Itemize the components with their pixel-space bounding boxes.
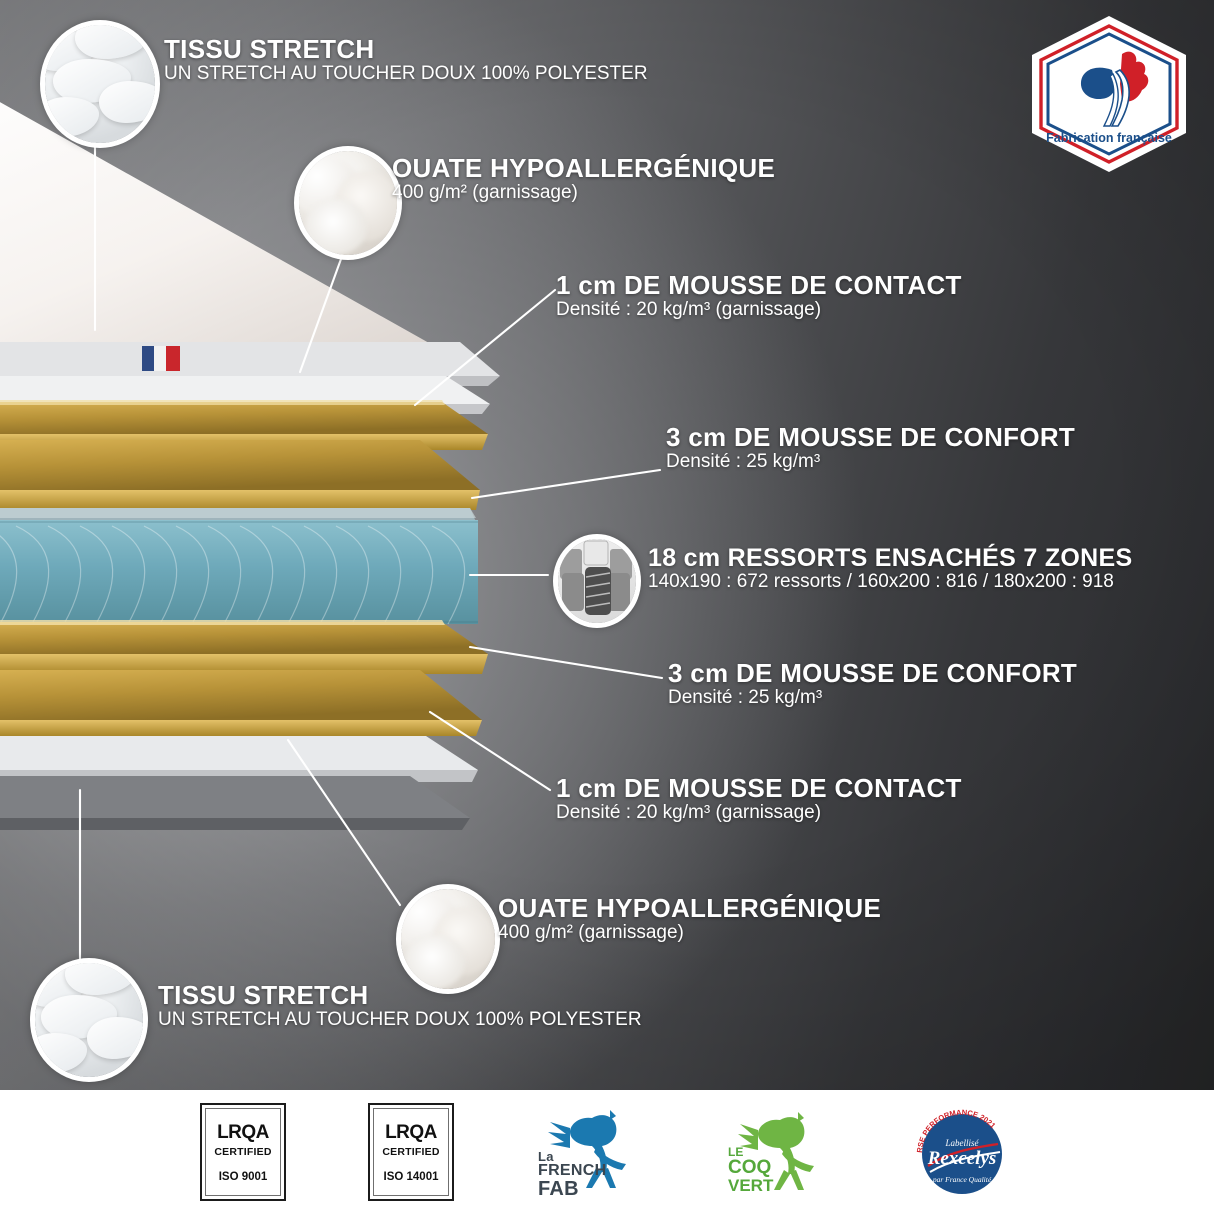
callout-mousse-confort-top: 3 cm DE MOUSSE DE CONFORT Densité : 25 k… — [666, 424, 1075, 473]
lrqa-certified: CERTIFIED — [214, 1146, 271, 1158]
callout-ouate-top: OUATE HYPOALLERGÉNIQUE 400 g/m² (garniss… — [392, 155, 775, 204]
callout-title: 18 cm RESSORTS ENSACHÉS 7 ZONES — [648, 545, 1132, 571]
callout-title: 1 cm DE MOUSSE DE CONTACT — [556, 775, 962, 802]
callout-title: 1 cm DE MOUSSE DE CONTACT — [556, 272, 962, 299]
rooster-blue — [1081, 68, 1116, 99]
callout-subtitle: 400 g/m² (garnissage) — [392, 182, 775, 204]
callout-subtitle: Densité : 25 kg/m³ — [666, 451, 1075, 473]
stretch-fabric-swatch-bottom — [30, 958, 148, 1082]
cert-lrqa-iso-14001: LRQA CERTIFIED ISO 14001 — [368, 1103, 454, 1201]
coq-vert-line3: VERT — [728, 1177, 773, 1194]
callout-mousse-confort-bottom: 3 cm DE MOUSSE DE CONFORT Densité : 25 k… — [668, 660, 1077, 709]
lrqa-standard: ISO 14001 — [384, 1171, 439, 1183]
coq-vert-line2: COQ — [728, 1158, 771, 1177]
stretch-fabric-swatch-top — [40, 20, 160, 148]
callout-subtitle: Densité : 20 kg/m³ (garnissage) — [556, 802, 962, 824]
certification-footer: LRQA CERTIFIED ISO 9001 LRQA CERTIFIED I… — [0, 1090, 1214, 1214]
lrqa-wordmark: LRQA — [217, 1122, 269, 1144]
callout-title: OUATE HYPOALLERGÉNIQUE — [498, 895, 881, 922]
callout-subtitle: Densité : 25 kg/m³ — [668, 687, 1077, 709]
cert-lrqa-iso-9001: LRQA CERTIFIED ISO 9001 — [200, 1103, 286, 1201]
callout-title: 3 cm DE MOUSSE DE CONFORT — [666, 424, 1075, 451]
fabrication-francaise-badge: Fabrication française — [1026, 14, 1192, 174]
lrqa-certified: CERTIFIED — [382, 1146, 439, 1158]
svg-text:Rexcelys: Rexcelys — [927, 1148, 997, 1169]
lrqa-wordmark: LRQA — [385, 1122, 437, 1144]
callout-subtitle: 140x190 : 672 ressorts / 160x200 : 816 /… — [648, 571, 1132, 593]
hexagon-label: Fabrication française — [1046, 131, 1172, 145]
callout-subtitle: Densité : 20 kg/m³ (garnissage) — [556, 299, 962, 321]
cert-le-coq-vert: LE COQ VERT — [728, 1102, 828, 1202]
callout-subtitle: UN STRETCH AU TOUCHER DOUX 100% POLYESTE… — [158, 1009, 642, 1031]
product-infographic: TISSU STRETCH UN STRETCH AU TOUCHER DOUX… — [0, 0, 1214, 1214]
callout-tissu-stretch-top: TISSU STRETCH UN STRETCH AU TOUCHER DOUX… — [164, 36, 648, 85]
cert-rexcelys: RSE PERFORMANCE 2021 Labellisé Rexcelys … — [910, 1102, 1014, 1202]
callout-tissu-stretch-bottom: TISSU STRETCH UN STRETCH AU TOUCHER DOUX… — [158, 982, 642, 1031]
callout-ressorts-ensaches: 18 cm RESSORTS ENSACHÉS 7 ZONES 140x190 … — [648, 545, 1132, 593]
hypoallergenic-wadding-swatch-top — [294, 146, 402, 260]
lrqa-standard: ISO 9001 — [219, 1171, 268, 1183]
callout-subtitle: 400 g/m² (garnissage) — [498, 922, 881, 944]
cert-la-french-fab: La FRENCH FAB — [536, 1102, 646, 1202]
callout-mousse-contact-bottom: 1 cm DE MOUSSE DE CONTACT Densité : 20 k… — [556, 775, 962, 824]
callout-title: 3 cm DE MOUSSE DE CONFORT — [668, 660, 1077, 687]
callout-mousse-contact-top: 1 cm DE MOUSSE DE CONTACT Densité : 20 k… — [556, 272, 962, 321]
hypoallergenic-wadding-swatch-bottom — [396, 884, 500, 994]
callout-title: TISSU STRETCH — [158, 982, 642, 1009]
svg-text:par France Qualité: par France Qualité — [932, 1175, 992, 1184]
callout-subtitle: UN STRETCH AU TOUCHER DOUX 100% POLYESTE… — [164, 63, 648, 85]
callout-title: OUATE HYPOALLERGÉNIQUE — [392, 155, 775, 182]
callout-title: TISSU STRETCH — [164, 36, 648, 63]
callout-ouate-bottom: OUATE HYPOALLERGÉNIQUE 400 g/m² (garniss… — [498, 895, 881, 944]
svg-text:Labellisé: Labellisé — [945, 1138, 980, 1148]
french-fab-line2: FRENCH — [538, 1163, 606, 1179]
french-fab-line3: FAB — [538, 1179, 579, 1199]
pocket-spring-swatch — [553, 534, 641, 628]
